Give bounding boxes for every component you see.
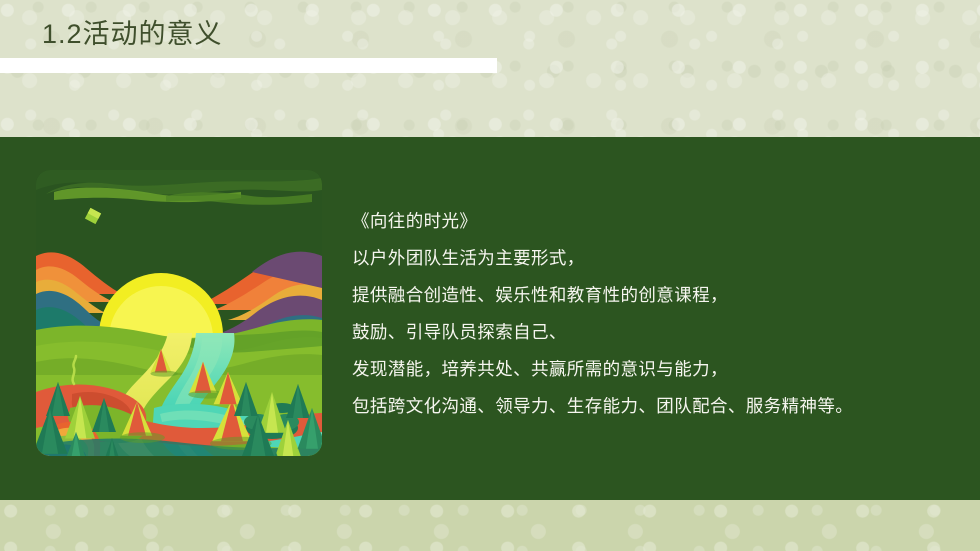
footer-texture-overlay (0, 500, 980, 551)
body-text-block: 《向往的时光》 以户外团队生活为主要形式， 提供融合创造性、娱乐性和教育性的创意… (352, 203, 952, 425)
page-title: 1.2活动的意义 (42, 12, 223, 51)
body-line-5: 发现潜能，培养共处、共赢所需的意识与能力， (352, 351, 952, 388)
title-underline-bar (0, 58, 497, 73)
slide: 1.2活动的意义 (0, 0, 980, 551)
footer-band (0, 500, 980, 551)
body-line-1: 《向往的时光》 (352, 203, 952, 240)
body-line-2: 以户外团队生活为主要形式， (352, 240, 952, 277)
body-line-6: 包括跨文化沟通、领导力、生存能力、团队配合、服务精神等。 (352, 388, 952, 425)
landscape-artwork-svg (36, 170, 322, 456)
camping-landscape-illustration (36, 170, 322, 456)
body-line-4: 鼓励、引导队员探索自己、 (352, 314, 952, 351)
body-line-3: 提供融合创造性、娱乐性和教育性的创意课程， (352, 277, 952, 314)
